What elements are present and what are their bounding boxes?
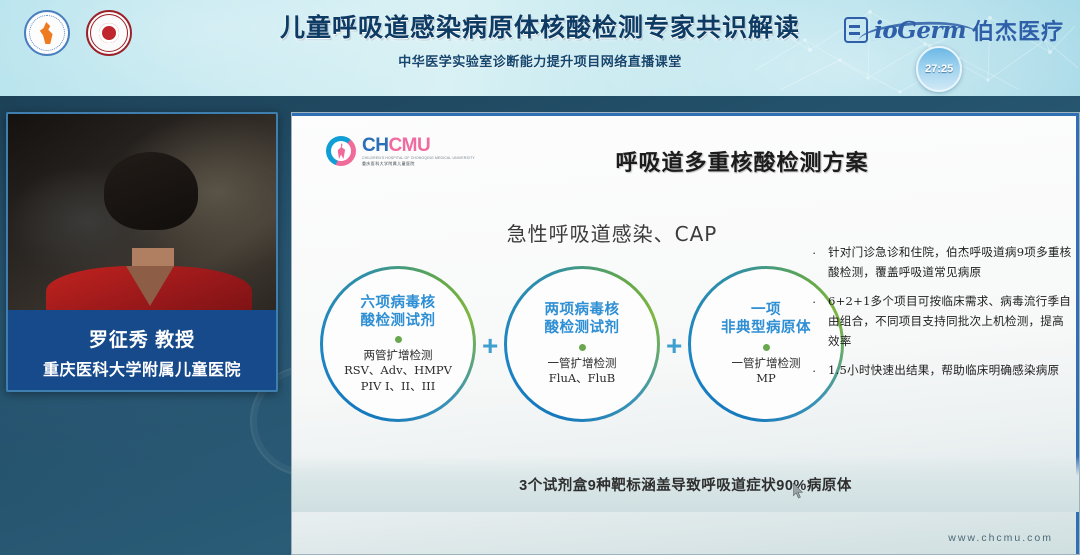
bullet-text-2: 6+2+1多个项目可按临床需求、病毒流行季自由组合，不同项目支持同批次上机检测，… — [828, 292, 1074, 352]
bullet-text-3: 1.5小时快速出结果，帮助临床明确感染病原 — [828, 361, 1059, 382]
list-item: · 1.5小时快速出结果，帮助临床明确感染病原 — [812, 361, 1074, 382]
bottom-cutoff-caption-text — [14, 541, 102, 555]
reagent-circle-1-body-line3: PIV I、II、III — [344, 379, 452, 395]
plus-sign-2: + — [666, 330, 682, 362]
slide-summary-band: 3个试剂盒9种靶标涵盖导致呼吸道症状90%病原体 — [292, 456, 1079, 512]
reagent-circle-3-body: 一管扩增检测 MP — [732, 356, 801, 387]
slide-url: www.chcmu.com — [948, 532, 1053, 544]
reagent-circle-2-heading-line2: 酸检测试剂 — [545, 319, 620, 337]
biogerm-brand-logo: ioGerm 伯杰医疗 27:25 — [844, 14, 1064, 46]
reagent-circle-1-body-line1: 两管扩增检测 — [344, 348, 452, 364]
stream-timer-badge: 27:25 — [916, 46, 962, 92]
broadcast-stage: 儿童呼吸道感染病原体核酸检测专家共识解读 中华医学实验室诊断能力提升项目网络直播… — [0, 0, 1080, 555]
chcmu-logo: CHCMU CHILDREN'S HOSPITAL OF CHONGQING M… — [326, 136, 475, 166]
reagent-circle-1-heading: 六项病毒核 酸检测试剂 — [361, 294, 436, 330]
bullet-marker: · — [812, 243, 820, 283]
bullet-marker: · — [812, 292, 820, 352]
slide-title: 呼吸道多重核酸检测方案 — [532, 145, 952, 177]
reagent-circle-2-heading-line1: 两项病毒核 — [545, 301, 620, 319]
reagent-circle-1-dot-icon — [395, 336, 402, 343]
presenter-nameplate: 罗征秀 教授 重庆医科大学附属儿童医院 — [8, 310, 276, 392]
reagent-circle-3-dot-icon — [763, 344, 770, 351]
reagent-circle-1-body-line2: RSV、Adv、HMPV — [344, 363, 452, 379]
reagent-circle-2-body: 一管扩增检测 FluA、FluB — [548, 356, 617, 387]
feature-bullet-list: · 针对门诊急诊和住院，伯杰呼吸道病9项多重核酸检测，覆盖呼吸道常见病原 · 6… — [812, 243, 1074, 390]
reagent-circle-2-dot-icon — [579, 344, 586, 351]
reagent-circle-1-heading-line1: 六项病毒核 — [361, 294, 436, 312]
chcmu-sub-cn: 重庆医科大学附属儿童医院 — [362, 162, 475, 166]
bullet-text-1: 针对门诊急诊和住院，伯杰呼吸道病9项多重核酸检测，覆盖呼吸道常见病原 — [828, 243, 1074, 283]
presenter-video-panel[interactable]: 罗征秀 教授 重庆医科大学附属儿童医院 — [6, 112, 278, 392]
biogerm-name-cn: 伯杰医疗 — [972, 14, 1064, 46]
chcmu-mark-icon — [326, 136, 356, 166]
bottom-cutoff-caption — [14, 541, 102, 555]
bullet-marker: · — [812, 361, 820, 382]
mouse-cursor-icon — [793, 483, 804, 499]
reagent-circle-1-body: 两管扩增检测 RSV、Adv、HMPV PIV I、II、III — [344, 348, 452, 395]
reagent-circle-3-heading: 一项 非典型病原体 — [721, 301, 811, 337]
list-item: · 6+2+1多个项目可按临床需求、病毒流行季自由组合，不同项目支持同批次上机检… — [812, 292, 1074, 352]
reagent-circle-3-heading-line2: 非典型病原体 — [721, 319, 811, 337]
reagent-circle-2-heading: 两项病毒核 酸检测试剂 — [545, 301, 620, 337]
presenter-webcam-feed[interactable] — [8, 114, 276, 310]
header-banner: 儿童呼吸道感染病原体核酸检测专家共识解读 中华医学实验室诊断能力提升项目网络直播… — [0, 0, 1080, 96]
reagent-circle-3-body-line1: 一管扩增检测 — [732, 356, 801, 372]
reagent-circle-1[interactable]: 六项病毒核 酸检测试剂 两管扩增检测 RSV、Adv、HMPV PIV I、II… — [320, 266, 476, 422]
reagent-circle-2-body-line1: 一管扩增检测 — [548, 356, 617, 372]
chcmu-acronym: CHCMU — [362, 136, 475, 155]
reagent-circle-2[interactable]: 两项病毒核 酸检测试剂 一管扩增检测 FluA、FluB — [504, 266, 660, 422]
slide-subtitle: 急性呼吸道感染、CAP — [392, 218, 832, 247]
reagent-circle-3-heading-line1: 一项 — [721, 301, 811, 319]
chcmu-acronym-part2: CMU — [388, 135, 430, 156]
stream-timer-value: 27:25 — [925, 63, 953, 75]
reagent-circles-group: 六项病毒核 酸检测试剂 两管扩增检测 RSV、Adv、HMPV PIV I、II… — [312, 258, 852, 428]
list-item: · 针对门诊急诊和住院，伯杰呼吸道病9项多重核酸检测，覆盖呼吸道常见病原 — [812, 243, 1074, 283]
reagent-circle-1-heading-line2: 酸检测试剂 — [361, 312, 436, 330]
slide-top-accent-line — [292, 113, 1079, 116]
plus-sign-1: + — [482, 330, 498, 362]
presentation-slide[interactable]: CHCMU CHILDREN'S HOSPITAL OF CHONGQING M… — [291, 112, 1080, 555]
chcmu-acronym-part1: CH — [362, 135, 388, 156]
presenter-name: 罗征秀 教授 — [89, 325, 195, 352]
presenter-affiliation: 重庆医科大学附属儿童医院 — [43, 356, 241, 380]
reagent-circle-3-body-line2: MP — [732, 371, 801, 387]
reagent-circle-2-body-line2: FluA、FluB — [548, 371, 617, 387]
